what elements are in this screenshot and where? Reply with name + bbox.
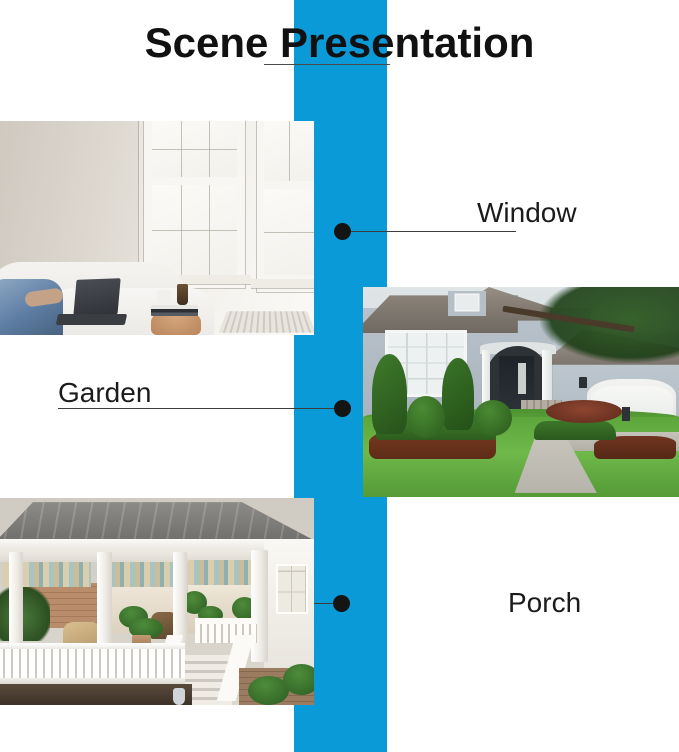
wall-lantern bbox=[579, 377, 587, 388]
title-underline bbox=[264, 64, 390, 65]
photo-window[interactable] bbox=[0, 121, 314, 335]
scene-covered-porch bbox=[0, 498, 314, 705]
scene-bedroom-window bbox=[0, 121, 314, 335]
round-shrub-mid bbox=[474, 400, 512, 436]
photo-porch[interactable] bbox=[0, 498, 314, 705]
hedge-row-right bbox=[534, 421, 616, 440]
door-sidelite bbox=[518, 363, 526, 395]
balusters-front bbox=[0, 649, 185, 680]
callout-dot-window[interactable] bbox=[334, 223, 351, 240]
window-mullion bbox=[289, 121, 290, 181]
radiator bbox=[219, 312, 314, 333]
laptop-keyboard bbox=[55, 314, 126, 325]
hanging-lantern bbox=[173, 688, 186, 705]
laptop-screen bbox=[74, 279, 121, 317]
slide-canvas: Scene Presentation bbox=[0, 0, 679, 752]
wall-window bbox=[278, 566, 306, 612]
stacked-books bbox=[151, 305, 198, 316]
photo-garden[interactable] bbox=[363, 287, 679, 497]
vase bbox=[177, 284, 188, 305]
window-mullion bbox=[264, 232, 314, 233]
window-sill-right bbox=[251, 279, 314, 288]
window-mullion bbox=[152, 230, 237, 231]
tall-shrub-left bbox=[372, 354, 407, 434]
callout-label-porch: Porch bbox=[508, 589, 581, 617]
window-mullion bbox=[152, 149, 237, 150]
tall-shrub-mid bbox=[442, 358, 474, 429]
porch-foundation bbox=[0, 684, 192, 705]
wall-corner-line bbox=[138, 121, 139, 275]
path-lamp-post bbox=[622, 407, 630, 422]
mug bbox=[157, 290, 171, 305]
callout-label-window: Window bbox=[477, 199, 577, 227]
leader-line-window bbox=[346, 231, 516, 232]
page-title: Scene Presentation bbox=[0, 18, 679, 68]
porch-column bbox=[251, 550, 267, 662]
topiary bbox=[283, 664, 314, 695]
striped-awning bbox=[188, 560, 257, 585]
callout-dot-porch[interactable] bbox=[333, 595, 350, 612]
large-leafy-plant bbox=[0, 587, 50, 641]
callout-dot-garden[interactable] bbox=[334, 400, 351, 417]
striped-awning bbox=[104, 562, 179, 587]
leader-line-garden bbox=[58, 408, 343, 409]
callout-label-garden: Garden bbox=[58, 379, 151, 407]
dormer-window bbox=[456, 295, 478, 310]
scene-house-garden bbox=[363, 287, 679, 497]
